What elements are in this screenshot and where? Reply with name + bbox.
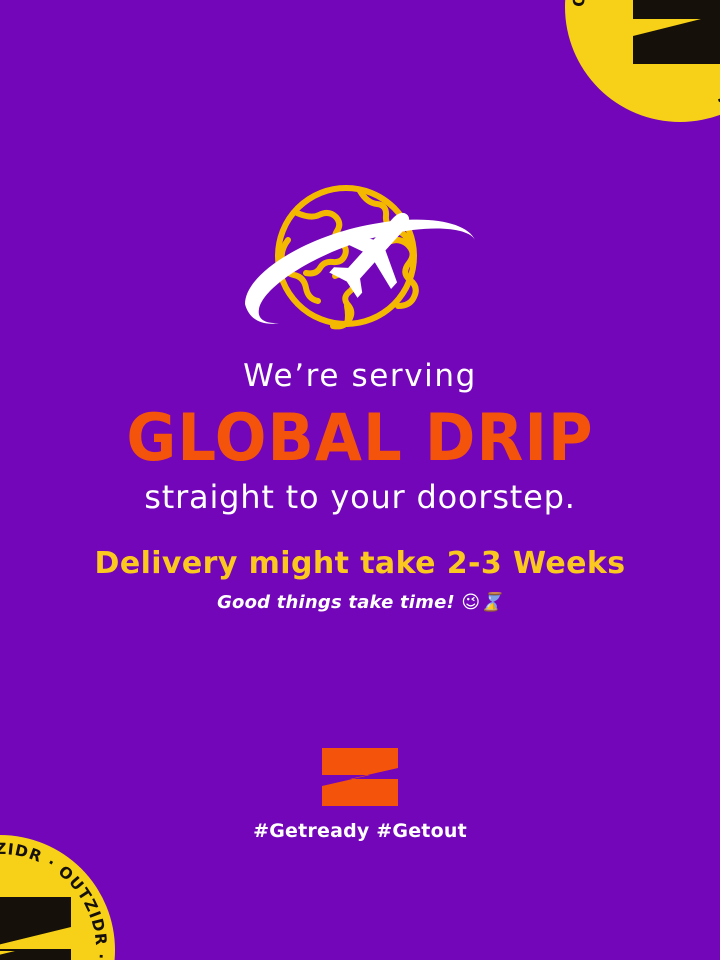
- delivery-note: Delivery might take 2-3 Weeks Good thing…: [0, 546, 720, 613]
- headline-block: We’re serving GLOBAL DRIP straight to yo…: [0, 360, 720, 515]
- outzidr-badge-bottom-left: OUTZIDR · OUTZIDR · OUTZIDR · OUTZIDR · …: [0, 835, 115, 960]
- headline-main: GLOBAL DRIP: [0, 403, 720, 476]
- promo-poster: We’re serving GLOBAL DRIP straight to yo…: [0, 0, 720, 960]
- footer-block: #Getready #Getout: [0, 746, 720, 842]
- badge-z-mark: [0, 897, 71, 960]
- delivery-time-text: Delivery might take 2-3 Weeks: [0, 546, 720, 581]
- globe-plane-illustration: [0, 178, 720, 348]
- outzidr-badge-top-right: OUTZIDR · OUTZIDR · OUTZIDR · OUTZIDR ·: [565, 0, 720, 122]
- globe-icon: [235, 178, 485, 348]
- z-logo-icon: [320, 746, 400, 808]
- delivery-subtext: Good things take time! 😉⌛: [0, 592, 720, 613]
- headline-bottom: straight to your doorstep.: [0, 481, 720, 515]
- badge-z-mark: [633, 0, 720, 64]
- headline-top: We’re serving: [0, 360, 720, 393]
